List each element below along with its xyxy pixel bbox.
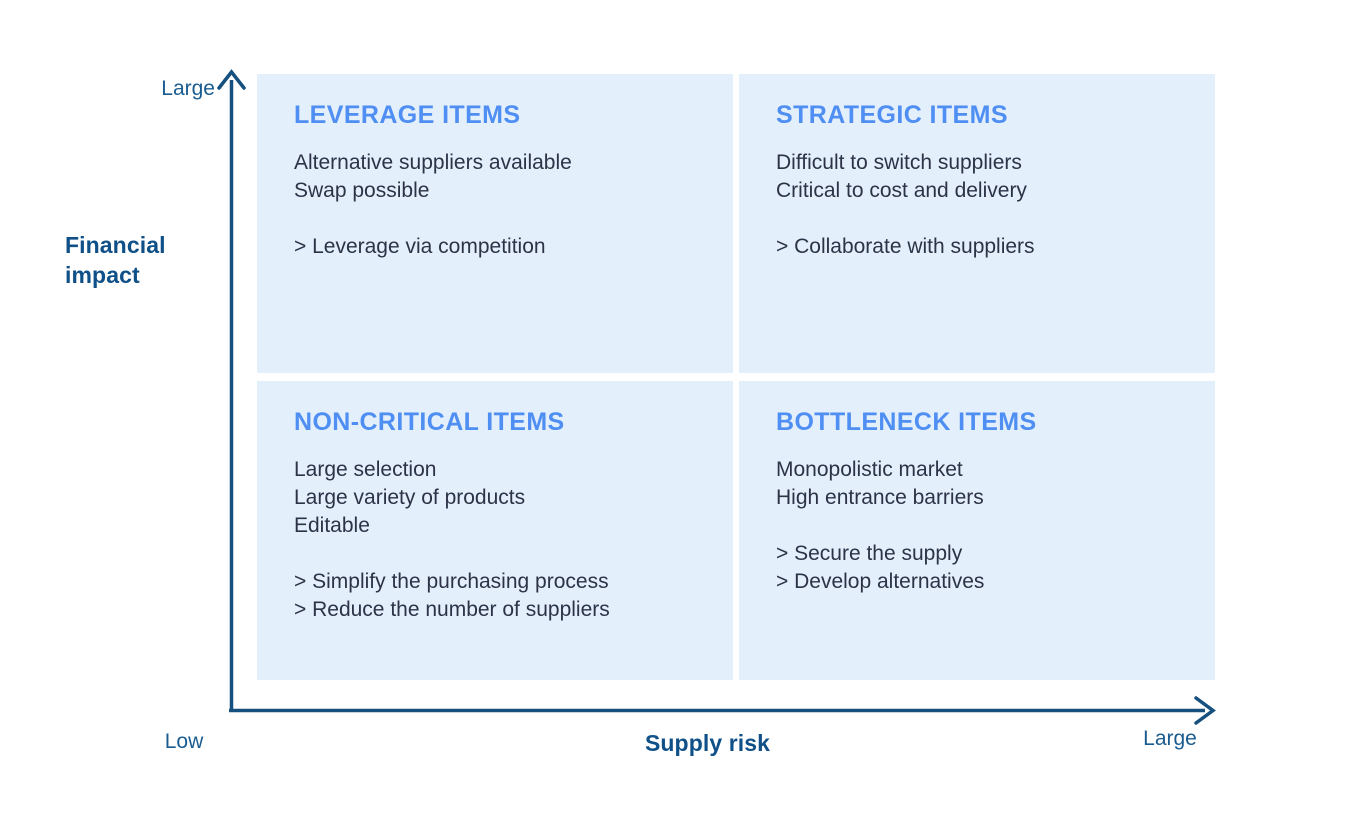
quadrant-characteristics-strategic: Difficult to switch suppliers Critical t…: [776, 149, 1215, 205]
quadrant-bottleneck-items: BOTTLENECK ITEMS Monopolistic market Hig…: [739, 381, 1215, 680]
list-item: > Develop alternatives: [776, 568, 1215, 596]
list-item: > Secure the supply: [776, 540, 1215, 568]
list-item: > Reduce the number of suppliers: [294, 596, 733, 624]
quadrant-actions-bottleneck: > Secure the supply > Develop alternativ…: [776, 540, 1215, 596]
quadrant-actions-leverage: > Leverage via competition: [294, 233, 733, 261]
list-item: Critical to cost and delivery: [776, 177, 1215, 205]
list-item: Large variety of products: [294, 484, 733, 512]
quadrant-title-strategic: STRATEGIC ITEMS: [776, 100, 1215, 130]
quadrant-actions-strategic: > Collaborate with suppliers: [776, 233, 1215, 261]
quadrant-title-non-critical: NON-CRITICAL ITEMS: [294, 407, 733, 437]
list-item: High entrance barriers: [776, 484, 1215, 512]
y-axis-title-line1: Financial: [65, 230, 215, 260]
list-item: Large selection: [294, 456, 733, 484]
quadrant-title-bottleneck: BOTTLENECK ITEMS: [776, 407, 1215, 437]
x-axis-title: Supply risk: [560, 728, 855, 758]
quadrant-title-leverage: LEVERAGE ITEMS: [294, 100, 733, 130]
kraljic-matrix-diagram: Financial impact Large Supply risk Low L…: [0, 0, 1355, 840]
y-axis-tick-large: Large: [70, 76, 215, 102]
list-item: Swap possible: [294, 177, 733, 205]
x-axis-tick-large: Large: [1110, 726, 1230, 752]
list-item: > Collaborate with suppliers: [776, 233, 1215, 261]
list-item: Alternative suppliers available: [294, 149, 733, 177]
y-axis-title-line2: impact: [65, 260, 215, 290]
quadrant-grid: LEVERAGE ITEMS Alternative suppliers ava…: [257, 74, 1215, 680]
y-axis-title: Financial impact: [65, 230, 215, 290]
quadrant-actions-non-critical: > Simplify the purchasing process > Redu…: [294, 568, 733, 624]
quadrant-characteristics-bottleneck: Monopolistic market High entrance barrie…: [776, 456, 1215, 512]
list-item: Monopolistic market: [776, 456, 1215, 484]
x-axis-arrowhead: [1196, 698, 1213, 723]
list-item: > Leverage via competition: [294, 233, 733, 261]
quadrant-strategic-items: STRATEGIC ITEMS Difficult to switch supp…: [739, 74, 1215, 373]
list-item: > Simplify the purchasing process: [294, 568, 733, 596]
list-item: Difficult to switch suppliers: [776, 149, 1215, 177]
quadrant-leverage-items: LEVERAGE ITEMS Alternative suppliers ava…: [257, 74, 733, 373]
list-item: Editable: [294, 512, 733, 540]
quadrant-characteristics-non-critical: Large selection Large variety of product…: [294, 456, 733, 540]
quadrant-characteristics-leverage: Alternative suppliers available Swap pos…: [294, 149, 733, 205]
x-axis-tick-low: Low: [120, 729, 248, 755]
y-axis-arrowhead: [219, 72, 244, 88]
quadrant-non-critical-items: NON-CRITICAL ITEMS Large selection Large…: [257, 381, 733, 680]
